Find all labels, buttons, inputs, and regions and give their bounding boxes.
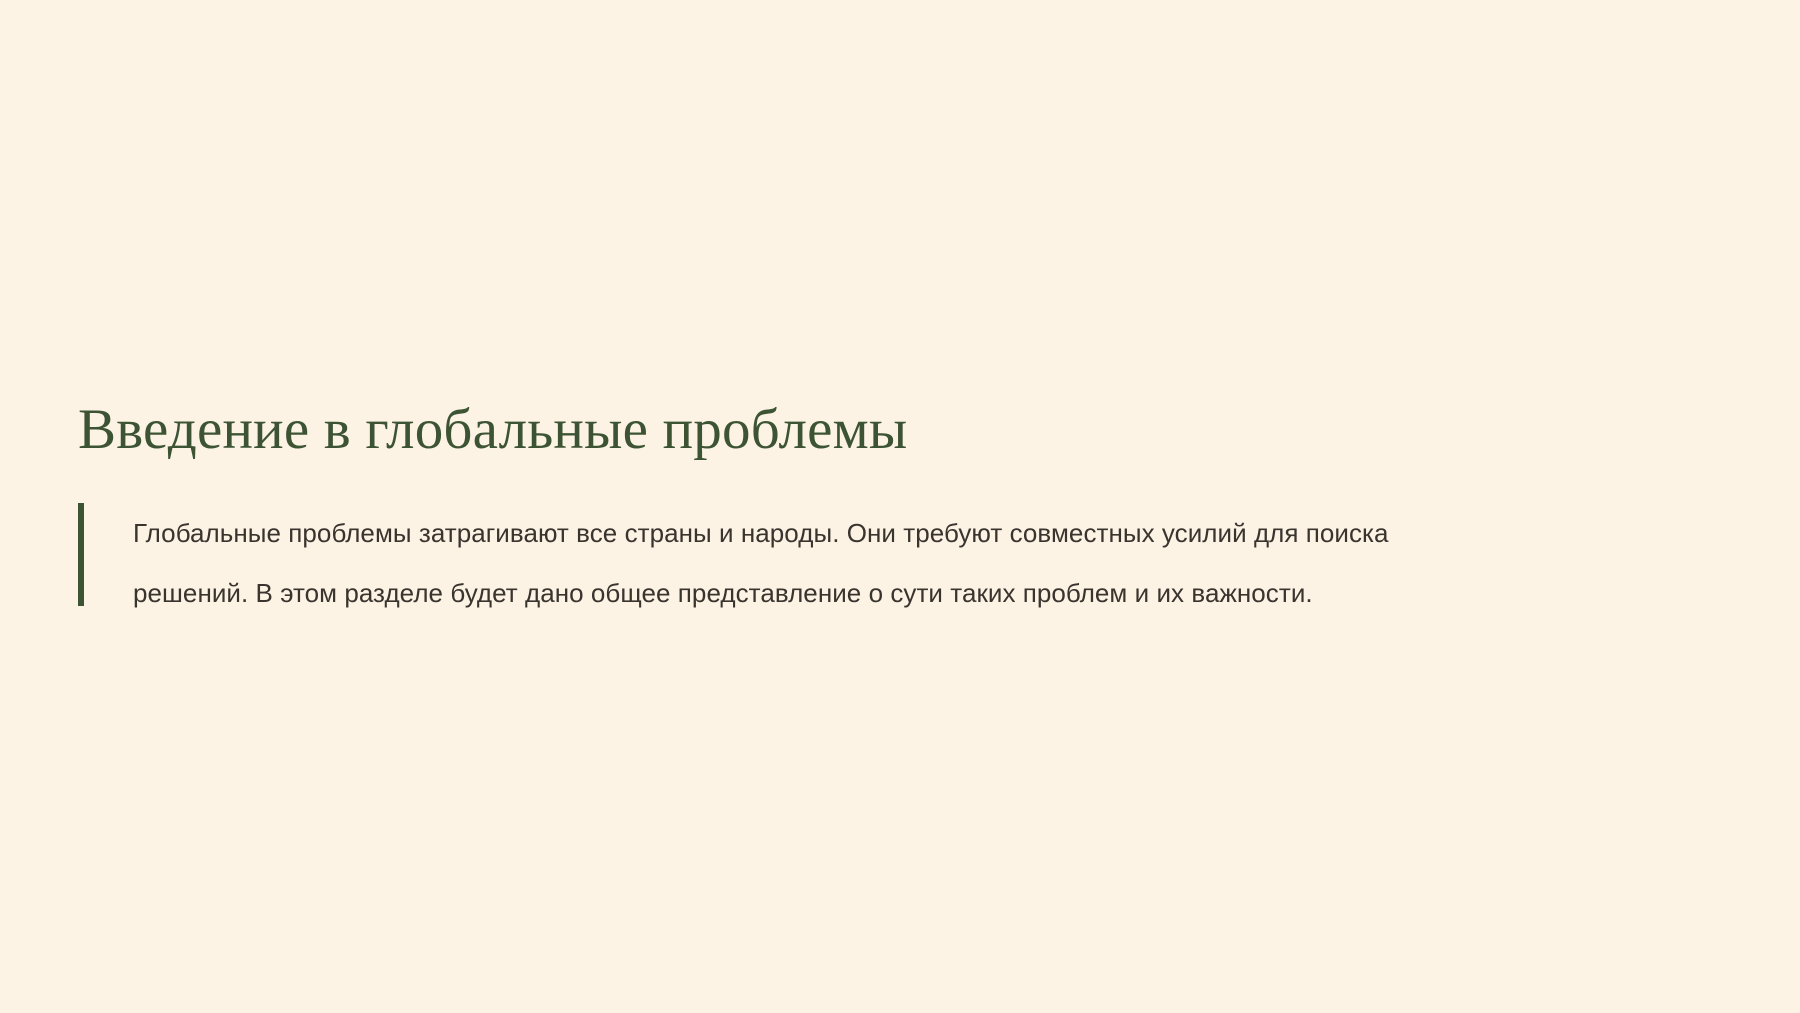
lead-paragraph: Глобальные проблемы затрагивают все стра… xyxy=(133,503,1423,623)
lead-callout: Глобальные проблемы затрагивают все стра… xyxy=(78,503,1758,623)
page-title: Введение в глобальные проблемы xyxy=(78,398,1758,462)
accent-bar xyxy=(78,503,84,606)
slide-content: Введение в глобальные проблемы Глобальны… xyxy=(78,398,1758,623)
slide-canvas: Введение в глобальные проблемы Глобальны… xyxy=(0,0,1800,1013)
